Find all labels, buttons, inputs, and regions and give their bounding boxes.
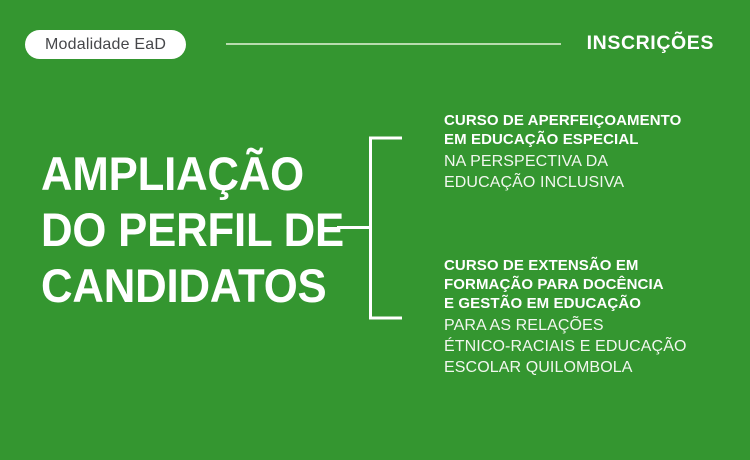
course-1-title-line-2: EM EDUCAÇÃO ESPECIAL (444, 130, 734, 149)
bracket-connector-icon (336, 130, 408, 326)
course-2-subtitle-line-1: PARA AS RELAÇÕES (444, 315, 734, 336)
course-2-title-line-2: FORMAÇÃO PARA DOCÊNCIA (444, 275, 734, 294)
course-2-title-line-1: CURSO DE EXTENSÃO EM (444, 256, 734, 275)
course-1-title-line-1: CURSO DE APERFEIÇOAMENTO (444, 111, 734, 130)
modality-badge-label: Modalidade EaD (45, 37, 166, 53)
course-item-2: CURSO DE EXTENSÃO EM FORMAÇÃO PARA DOCÊN… (444, 256, 734, 378)
course-1-subtitle-line-1: NA PERSPECTIVA DA (444, 151, 734, 172)
page-title-line-2: DO PERFIL DE (41, 202, 344, 258)
course-2-subtitle-line-3: ESCOLAR QUILOMBOLA (444, 357, 734, 378)
page-title-line-3: CANDIDATOS (41, 258, 344, 314)
inscriptions-label: INSCRIÇÕES (587, 31, 714, 56)
header-divider (226, 43, 561, 45)
course-item-1: CURSO DE APERFEIÇOAMENTO EM EDUCAÇÃO ESP… (444, 111, 734, 193)
course-1-subtitle-line-2: EDUCAÇÃO INCLUSIVA (444, 172, 734, 193)
modality-badge: Modalidade EaD (25, 30, 186, 59)
promo-banner: Modalidade EaD INSCRIÇÕES AMPLIAÇÃO DO P… (0, 0, 750, 460)
page-title-line-1: AMPLIAÇÃO (41, 146, 344, 202)
course-2-title-line-3: E GESTÃO EM EDUCAÇÃO (444, 294, 734, 313)
course-2-subtitle-line-2: ÉTNICO-RACIAIS E EDUCAÇÃO (444, 336, 734, 357)
page-title: AMPLIAÇÃO DO PERFIL DE CANDIDATOS (41, 146, 344, 314)
